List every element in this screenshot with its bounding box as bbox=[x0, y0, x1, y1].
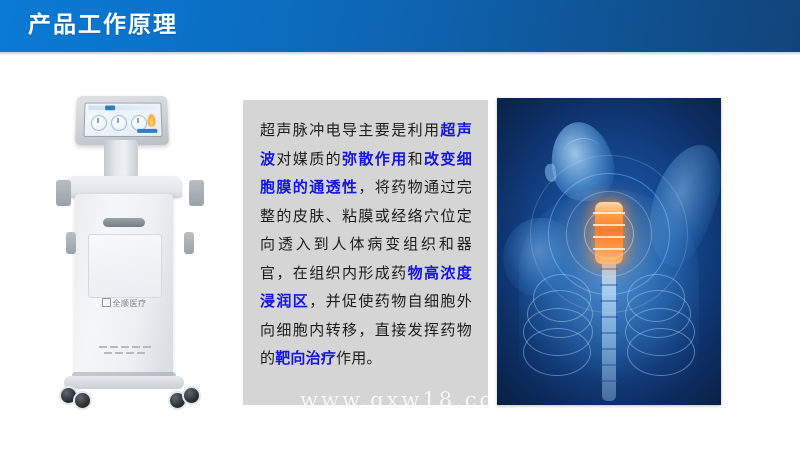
device-caster-wheel bbox=[182, 386, 201, 405]
device-product-image: 全顺医疗 bbox=[42, 82, 218, 412]
device-side-knob-right bbox=[184, 232, 194, 254]
device-caster-wheel bbox=[73, 391, 92, 410]
ultrasound-wave-ring bbox=[530, 155, 688, 313]
device-touchscreen bbox=[83, 103, 162, 137]
device-cabinet: 全顺医疗 bbox=[75, 194, 173, 380]
page-header-bar: 产品工作原理 bbox=[0, 0, 800, 52]
device-side-bracket-right bbox=[189, 180, 204, 206]
device-front-panel bbox=[88, 234, 162, 298]
device-brand-label: 全顺医疗 bbox=[113, 299, 147, 308]
description-plain: 超声脉冲电导主要是利用 bbox=[260, 121, 440, 139]
description-plain: 对媒质的 bbox=[276, 150, 342, 168]
watermark: www.qxw18.com bbox=[300, 388, 518, 412]
brand-mark-icon bbox=[102, 298, 111, 307]
screen-dial-2 bbox=[111, 115, 127, 131]
anatomy-body-layer bbox=[497, 98, 721, 405]
device-side-bracket-left bbox=[56, 180, 71, 206]
description-highlight: 靶向治疗 bbox=[275, 349, 336, 367]
device-brand-logo: 全顺医疗 bbox=[75, 298, 173, 309]
description-plain: 作用。 bbox=[336, 349, 382, 367]
description-plain: 和 bbox=[408, 150, 424, 168]
screen-toolbar bbox=[88, 105, 157, 110]
description-highlight: 弥散作用 bbox=[342, 150, 408, 168]
screen-tab-active bbox=[105, 105, 115, 110]
screen-dial-1 bbox=[91, 115, 107, 131]
screen-heat-icon bbox=[147, 113, 156, 127]
device-control-panel bbox=[75, 96, 169, 145]
screen-start-button bbox=[137, 129, 157, 133]
device-side-knob-left bbox=[66, 232, 76, 254]
device-handle bbox=[103, 218, 145, 227]
anatomy-illustration bbox=[497, 98, 721, 405]
page-title: 产品工作原理 bbox=[28, 11, 178, 40]
header-underline bbox=[0, 52, 800, 55]
description-panel: 超声脉冲电导主要是利用超声波对媒质的弥散作用和改变细胞膜的通透性，将药物通过完整… bbox=[243, 100, 488, 405]
description-text: 超声脉冲电导主要是利用超声波对媒质的弥散作用和改变细胞膜的通透性，将药物通过完整… bbox=[260, 116, 472, 373]
device-vent-slots bbox=[99, 346, 151, 360]
device-base bbox=[64, 376, 184, 389]
